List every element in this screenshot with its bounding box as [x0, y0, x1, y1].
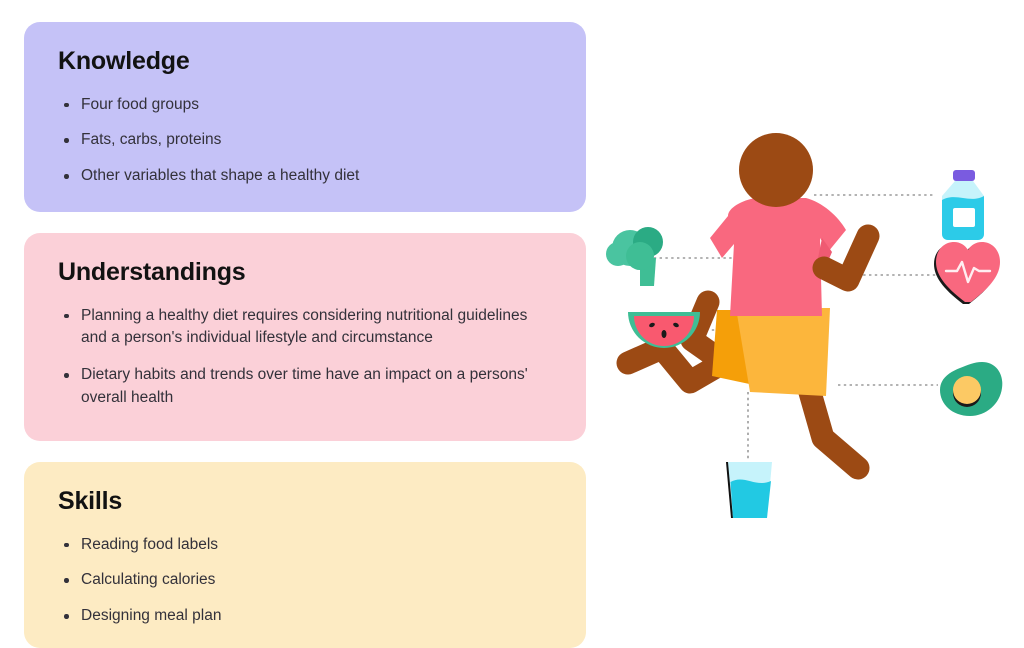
- bottle-cap: [953, 170, 975, 181]
- bullet-list-skills: Reading food labels Calculating calories…: [58, 534, 556, 629]
- water-glass-icon: [726, 462, 772, 518]
- card-knowledge[interactable]: Knowledge Four food groups Fats, carbs, …: [24, 22, 586, 212]
- figure-head: [739, 133, 813, 207]
- bottle-label: [953, 208, 975, 227]
- heart-rate-icon: [934, 242, 1000, 304]
- bullet-list-knowledge: Four food groups Fats, carbs, proteins O…: [58, 94, 556, 189]
- poster-canvas: Knowledge Four food groups Fats, carbs, …: [0, 0, 1024, 648]
- list-item: Designing meal plan: [58, 605, 556, 628]
- watermelon-seed: [662, 330, 667, 338]
- broccoli-floret: [626, 242, 654, 270]
- healthy-lifestyle-illustration: [600, 120, 1024, 540]
- list-item: Fats, carbs, proteins: [58, 129, 556, 152]
- list-item: Calculating calories: [58, 569, 556, 592]
- card-title-understandings: Understandings: [58, 259, 556, 287]
- water-bottle-icon: [942, 170, 984, 240]
- glass-water: [731, 479, 772, 518]
- card-understandings[interactable]: Understandings Planning a healthy diet r…: [24, 233, 586, 441]
- figure-shorts-front: [736, 308, 830, 396]
- list-item: Reading food labels: [58, 534, 556, 557]
- avocado-icon: [940, 362, 1002, 416]
- bullet-list-understandings: Planning a healthy diet requires conside…: [58, 305, 556, 411]
- list-item: Other variables that shape a healthy die…: [58, 165, 556, 188]
- list-item: Four food groups: [58, 94, 556, 117]
- card-title-knowledge: Knowledge: [58, 48, 556, 76]
- card-skills[interactable]: Skills Reading food labels Calculating c…: [24, 462, 586, 648]
- running-person: [628, 133, 868, 468]
- list-item: Planning a healthy diet requires conside…: [58, 305, 556, 351]
- list-item: Dietary habits and trends over time have…: [58, 364, 556, 410]
- concept-card-list: Knowledge Four food groups Fats, carbs, …: [24, 22, 586, 648]
- broccoli-icon: [606, 227, 663, 286]
- avocado-pit: [953, 376, 981, 404]
- card-title-skills: Skills: [58, 488, 556, 516]
